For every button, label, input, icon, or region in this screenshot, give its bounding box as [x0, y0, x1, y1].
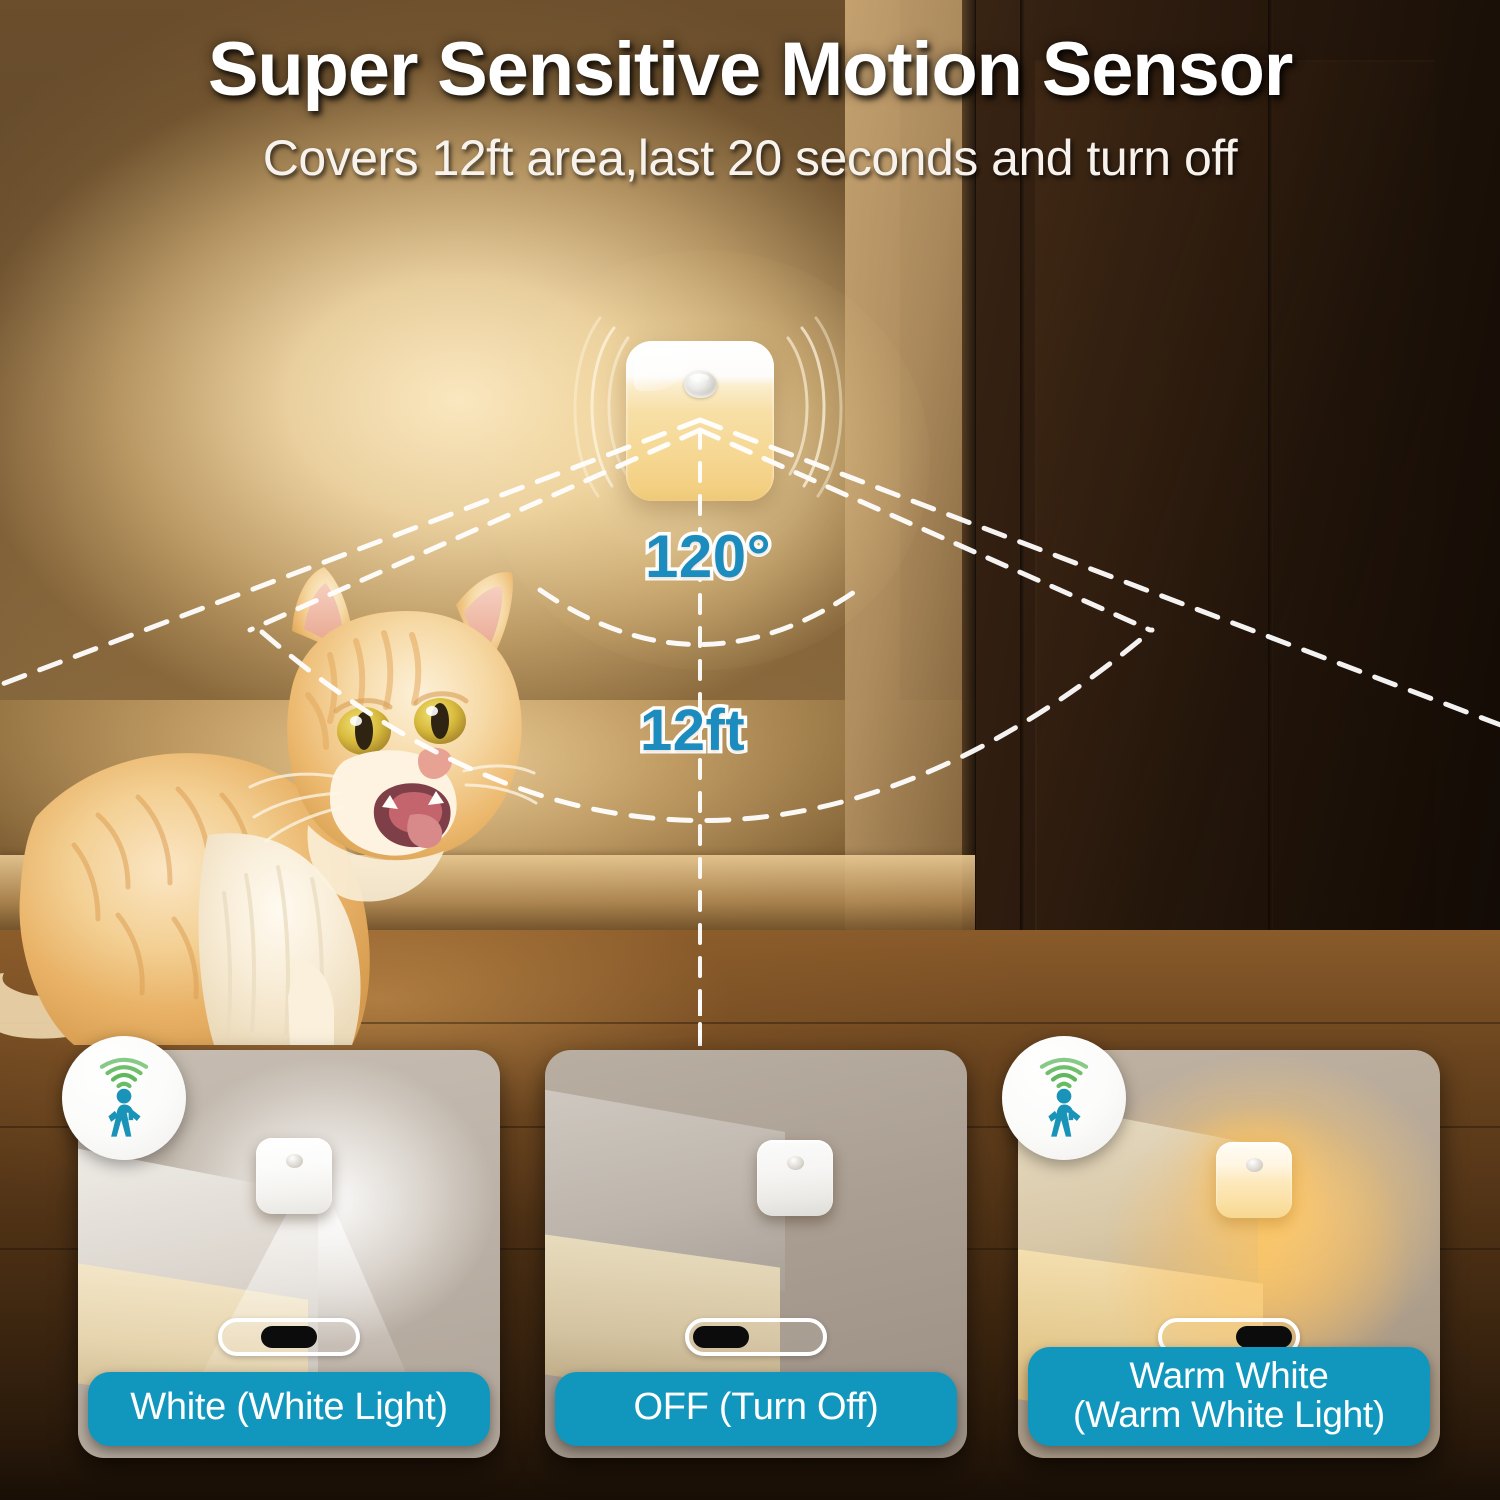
- mode-panel-white-light[interactable]: White (White Light): [78, 1050, 500, 1458]
- motion-sensor-walking-person-icon: [1002, 1036, 1126, 1160]
- toggle-knob[interactable]: [1236, 1326, 1292, 1348]
- night-light-device: [1216, 1142, 1292, 1218]
- infographic-stage: 120° 12ft Super Sensitive Motion Sensor …: [0, 0, 1500, 1500]
- page-subtitle: Covers 12ft area,last 20 seconds and tur…: [0, 129, 1500, 187]
- page-title: Super Sensitive Motion Sensor: [0, 26, 1500, 113]
- mode-panel-off[interactable]: OFF (Turn Off): [545, 1050, 967, 1458]
- motion-sensor-walking-person-icon: [62, 1036, 186, 1160]
- right-door-inset: [1035, 60, 1435, 940]
- pir-lens-icon: [787, 1156, 804, 1170]
- night-light-device: [256, 1138, 332, 1214]
- panel-caption-off: OFF (Turn Off): [555, 1372, 957, 1446]
- header-block: Super Sensitive Motion Sensor Covers 12f…: [0, 0, 1500, 187]
- panel-caption-white: White (White Light): [88, 1372, 490, 1446]
- pir-lens-icon: [286, 1154, 303, 1168]
- light-mode-toggle[interactable]: [685, 1318, 827, 1356]
- angle-label: 120°: [645, 522, 771, 591]
- motion-sensor-device: [626, 341, 774, 501]
- toggle-knob[interactable]: [261, 1326, 317, 1348]
- light-mode-toggle[interactable]: [218, 1318, 360, 1356]
- panel-caption-warm: Warm White (Warm White Light): [1028, 1347, 1430, 1446]
- caption-line: (Warm White Light): [1034, 1396, 1424, 1434]
- toggle-knob[interactable]: [693, 1326, 749, 1348]
- cat-illustration: [0, 545, 578, 1065]
- pir-lens-icon: [1246, 1158, 1263, 1172]
- pir-lens-icon: [684, 371, 717, 398]
- mode-panel-warm-white[interactable]: Warm White (Warm White Light): [1018, 1050, 1440, 1458]
- night-light-device: [757, 1140, 833, 1216]
- caption-line: White (White Light): [96, 1388, 482, 1428]
- distance-label: 12ft: [640, 697, 745, 764]
- mode-panels: White (White Light) OFF (Turn Off): [0, 1050, 1500, 1470]
- caption-line: OFF (Turn Off): [563, 1388, 949, 1428]
- caption-line: Warm White: [1034, 1357, 1424, 1395]
